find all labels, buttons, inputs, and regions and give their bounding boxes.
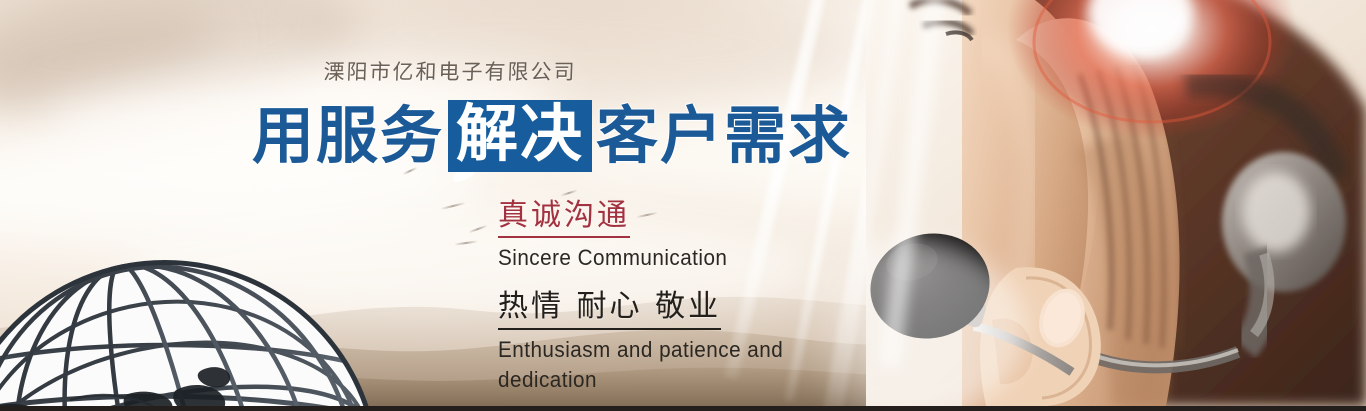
bottom-bar [0, 406, 1366, 411]
hero-banner: 溧阳市亿和电子有限公司 用服务 解决 客户需求 真诚沟通 Sincere Com… [0, 0, 1366, 411]
person-with-headset-image [866, 0, 1366, 406]
